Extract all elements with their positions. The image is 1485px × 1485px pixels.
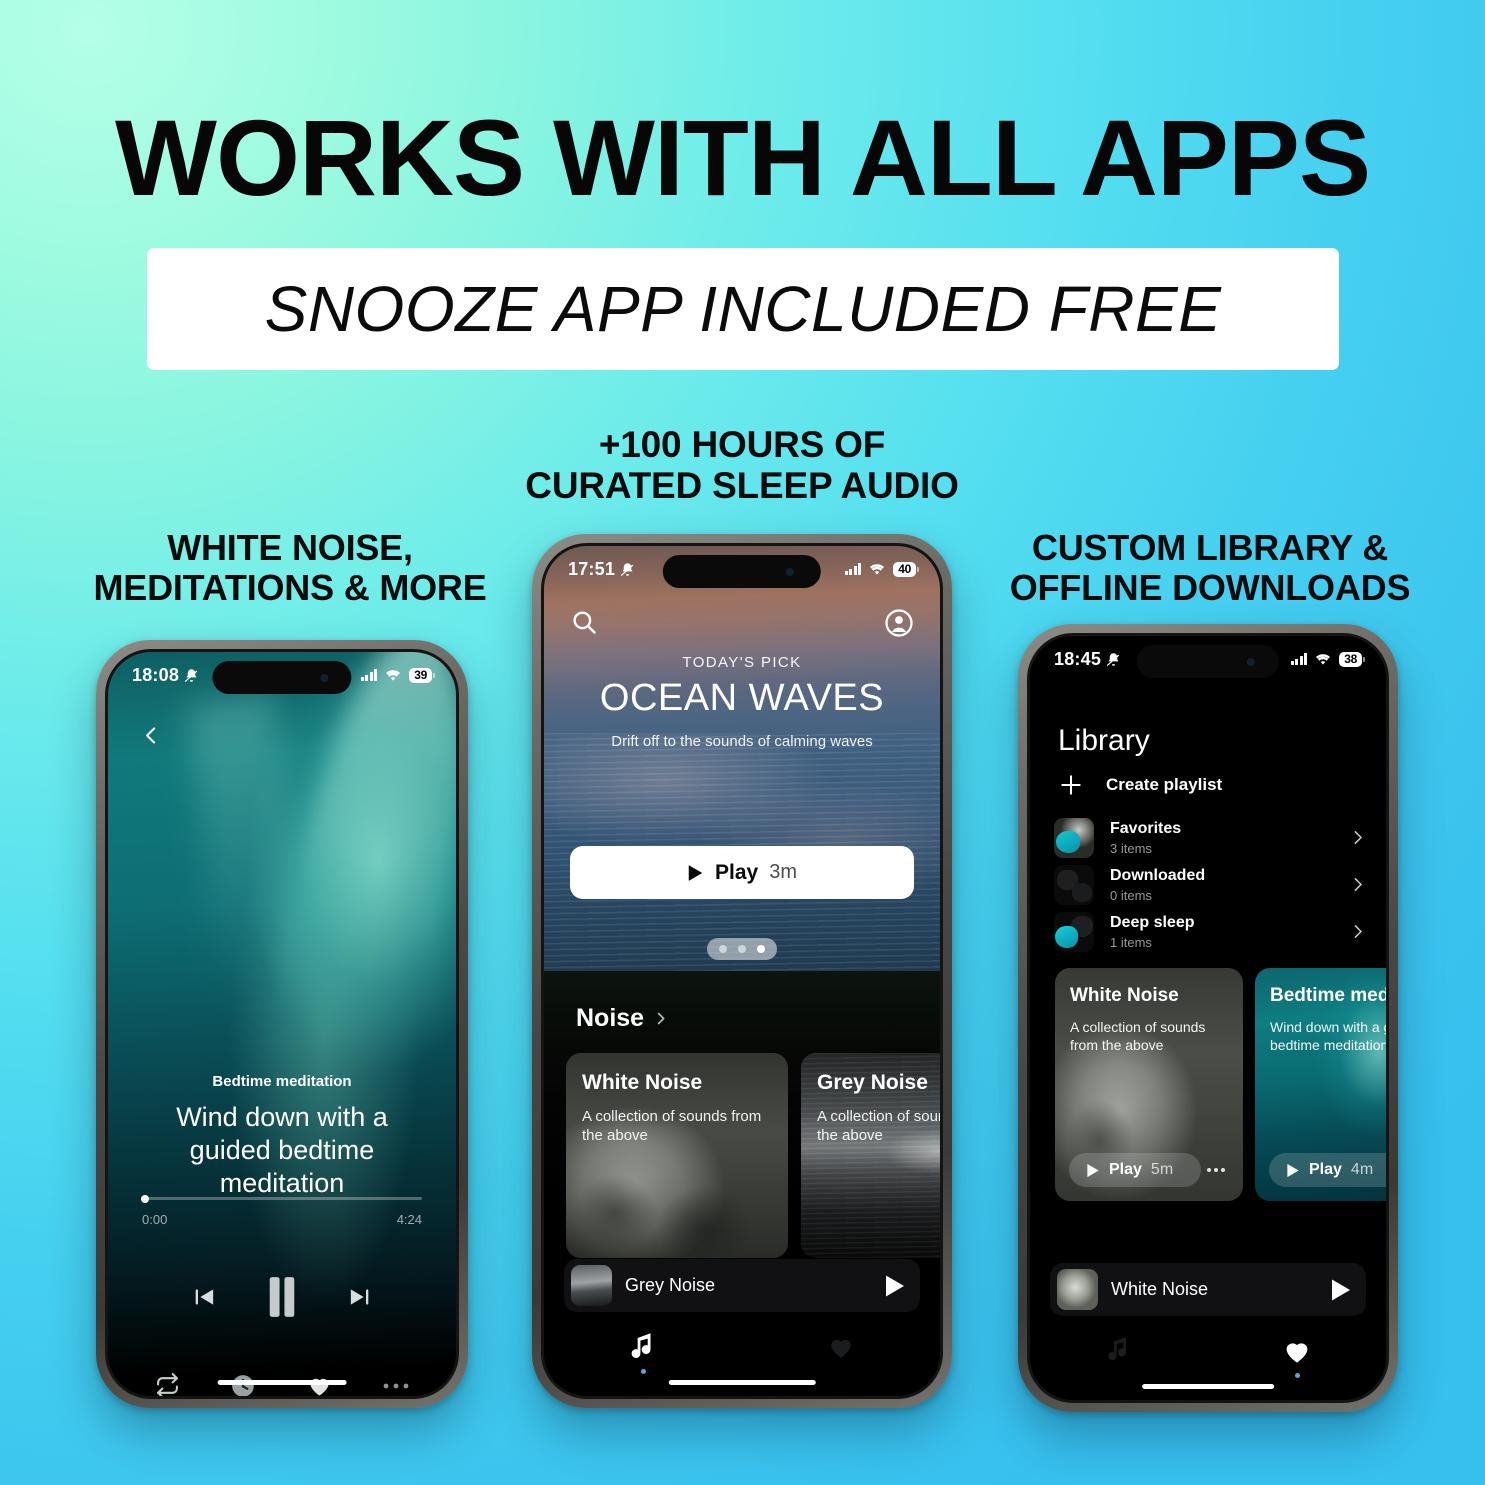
card-play-label: Play <box>1109 1161 1142 1179</box>
noise-section-title: Noise <box>576 1004 644 1033</box>
card-play-duration: 5m <box>1151 1161 1173 1179</box>
battery-level: 38 <box>1339 652 1362 667</box>
playlist-count: 3 items <box>1110 841 1333 856</box>
today-pick-description: Drift off to the sounds of calming waves <box>562 733 922 750</box>
phone-left-player: 18:08 39 Bedtime meditation Wind dow <box>96 640 468 1408</box>
wifi-icon <box>1314 652 1332 666</box>
timer-clock-icon[interactable] <box>230 1373 256 1399</box>
play-triangle-icon[interactable] <box>884 1274 906 1298</box>
repeat-icon[interactable] <box>155 1373 180 1398</box>
player-actions <box>108 1372 456 1399</box>
carousel-pager[interactable] <box>707 938 777 960</box>
card-play-button[interactable]: Play 4m <box>1269 1153 1389 1187</box>
battery-level: 40 <box>893 562 916 577</box>
account-circle-icon[interactable] <box>884 608 914 638</box>
phone-center-home: 17:51 40 T <box>532 534 952 1408</box>
dynamic-island <box>212 661 351 694</box>
tab-sounds[interactable] <box>1030 1336 1208 1378</box>
tab-active-dot <box>641 1369 646 1374</box>
chevron-right-icon <box>1349 876 1366 893</box>
list-item[interactable]: Deep sleep 1 items <box>1054 908 1366 955</box>
noise-card-grey-noise[interactable]: Grey Noise A collection of sounds from t… <box>801 1053 943 1258</box>
library-card-list: White Noise A collection of sounds from … <box>1055 968 1386 1201</box>
phone-right-library: 18:45 38 Library Create playlist <box>1018 624 1398 1412</box>
noise-card-title: White Noise <box>582 1071 772 1095</box>
bell-slash-icon <box>1106 652 1121 667</box>
now-playing-title: Wind down with a guided bedtime meditati… <box>138 1101 426 1200</box>
playlist-name: Downloaded <box>1110 867 1333 885</box>
bell-slash-icon <box>620 562 635 577</box>
remaining-time: 4:24 <box>397 1212 422 1227</box>
wifi-icon <box>868 562 886 576</box>
transport-controls <box>108 1274 456 1320</box>
hero-play-label: Play <box>715 861 758 885</box>
today-pick-kicker: TODAY'S PICK <box>562 654 922 671</box>
noise-card-description: A collection of sounds from the above <box>582 1107 772 1145</box>
wifi-icon <box>384 668 402 682</box>
create-playlist-label: Create playlist <box>1106 775 1222 795</box>
library-card-title: White Noise <box>1070 985 1228 1007</box>
play-triangle-icon[interactable] <box>1330 1278 1352 1302</box>
tab-bar <box>1030 1336 1386 1378</box>
tab-active-dot <box>1295 1373 1300 1378</box>
now-playing-info: Bedtime meditation Wind down with a guid… <box>108 1073 456 1200</box>
mini-player[interactable]: Grey Noise <box>564 1259 920 1312</box>
now-playing-kicker: Bedtime meditation <box>138 1073 426 1090</box>
tab-inactive-dot <box>839 1369 844 1374</box>
dynamic-island <box>1137 645 1279 678</box>
library-title: Library <box>1058 724 1150 758</box>
back-button[interactable] <box>134 718 168 752</box>
mini-player-title: White Noise <box>1111 1279 1317 1300</box>
playlist-artwork <box>1054 818 1094 858</box>
chevron-left-icon <box>141 725 162 746</box>
skip-previous-icon[interactable] <box>191 1283 219 1311</box>
noise-section-header[interactable]: Noise <box>544 971 940 1033</box>
playlist-count: 0 items <box>1110 888 1333 903</box>
create-playlist-row[interactable]: Create playlist <box>1058 772 1362 798</box>
cellular-bars-icon <box>845 563 862 575</box>
more-ellipsis-icon[interactable] <box>383 1382 409 1390</box>
subtitle-left-line2: MEDITATIONS & MORE <box>30 568 550 608</box>
mini-player-title: Grey Noise <box>625 1275 871 1296</box>
music-note-icon <box>1107 1336 1131 1364</box>
mini-player-artwork <box>571 1265 612 1306</box>
status-time: 17:51 <box>568 559 615 580</box>
subtitle-center: +100 HOURS OF CURATED SLEEP AUDIO <box>392 424 1092 507</box>
dynamic-island <box>663 555 821 588</box>
hero-play-button[interactable]: Play 3m <box>570 846 914 899</box>
playlist-artwork <box>1054 865 1094 905</box>
playlist-list: Favorites 3 items Downloaded 0 items Dee… <box>1054 814 1366 955</box>
cellular-bars-icon <box>361 669 378 681</box>
promo-banner-text: SNOOZE APP INCLUDED FREE <box>265 272 1222 346</box>
playlist-artwork <box>1054 912 1094 952</box>
chevron-right-icon <box>1349 829 1366 846</box>
pager-dot-3-active[interactable] <box>757 945 765 953</box>
library-card-title: Bedtime medit <box>1270 985 1389 1007</box>
subtitle-center-line2: CURATED SLEEP AUDIO <box>392 465 1092 506</box>
play-triangle-icon <box>1286 1163 1300 1178</box>
home-indicator <box>1142 1384 1274 1389</box>
bell-slash-icon <box>184 668 199 683</box>
list-item[interactable]: Downloaded 0 items <box>1054 861 1366 908</box>
playlist-name: Deep sleep <box>1110 914 1333 932</box>
heart-icon <box>1282 1336 1312 1366</box>
library-card-bedtime-meditation[interactable]: Bedtime medit Wind down with a gu bedtim… <box>1255 968 1389 1201</box>
skip-next-icon[interactable] <box>345 1283 373 1311</box>
page-title: WORKS WITH ALL APPS <box>0 104 1485 212</box>
playlist-name: Favorites <box>1110 820 1333 838</box>
subtitle-center-line1: +100 HOURS OF <box>392 424 1092 465</box>
search-icon[interactable] <box>570 608 598 636</box>
tab-library[interactable] <box>1208 1336 1386 1378</box>
subtitle-right-line2: OFFLINE DOWNLOADS <box>950 568 1470 608</box>
heart-filled-icon[interactable] <box>306 1372 333 1399</box>
playlist-count: 1 items <box>1110 935 1333 950</box>
noise-card-title: Grey Noise <box>817 1071 943 1095</box>
card-play-duration: 4m <box>1351 1161 1373 1179</box>
mini-player[interactable]: White Noise <box>1050 1263 1366 1316</box>
tab-library[interactable] <box>742 1332 940 1374</box>
home-indicator <box>218 1380 347 1385</box>
chevron-right-icon <box>653 1011 668 1026</box>
status-time: 18:45 <box>1054 649 1101 670</box>
pause-icon[interactable] <box>263 1274 301 1320</box>
more-ellipsis-icon[interactable] <box>1201 1168 1231 1172</box>
tab-bar <box>544 1332 940 1374</box>
promo-banner: SNOOZE APP INCLUDED FREE <box>147 248 1339 370</box>
subtitle-right-line1: CUSTOM LIBRARY & <box>950 528 1470 568</box>
hero-toolbar <box>544 608 940 638</box>
progress-slider[interactable] <box>142 1197 422 1200</box>
library-card-white-noise[interactable]: White Noise A collection of sounds from … <box>1055 968 1243 1201</box>
progress-area: 0:00 4:24 <box>142 1197 422 1227</box>
hero-play-duration: 3m <box>769 861 797 884</box>
tab-sounds[interactable] <box>544 1332 742 1374</box>
subtitle-left: WHITE NOISE, MEDITATIONS & MORE <box>30 528 550 609</box>
noise-card-description: A collection of sounds from the above <box>817 1107 943 1145</box>
subtitle-right: CUSTOM LIBRARY & OFFLINE DOWNLOADS <box>950 528 1470 609</box>
mini-player-artwork <box>1057 1269 1098 1310</box>
music-note-icon <box>630 1332 656 1362</box>
chevron-right-icon <box>1349 923 1366 940</box>
elapsed-time: 0:00 <box>142 1212 167 1227</box>
card-play-button[interactable]: Play 5m <box>1069 1153 1201 1187</box>
today-pick-title: OCEAN WAVES <box>562 677 922 720</box>
battery-level: 39 <box>409 668 432 683</box>
list-item[interactable]: Favorites 3 items <box>1054 814 1366 861</box>
subtitle-left-line1: WHITE NOISE, <box>30 528 550 568</box>
status-time: 18:08 <box>132 665 179 686</box>
tab-inactive-dot <box>1117 1371 1122 1376</box>
noise-card-white-noise[interactable]: White Noise A collection of sounds from … <box>566 1053 788 1258</box>
plus-icon <box>1058 772 1084 798</box>
progress-knob[interactable] <box>141 1195 149 1203</box>
today-pick-block: TODAY'S PICK OCEAN WAVES Drift off to th… <box>544 654 940 750</box>
play-triangle-icon <box>1086 1163 1100 1178</box>
pager-dot-2[interactable] <box>738 945 746 953</box>
heart-icon <box>827 1332 855 1362</box>
noise-card-list: White Noise A collection of sounds from … <box>544 1033 940 1258</box>
home-indicator <box>669 1380 816 1385</box>
library-card-description: Wind down with a gu bedtime meditation <box>1270 1018 1389 1054</box>
card-play-label: Play <box>1309 1161 1342 1179</box>
play-triangle-icon <box>687 864 704 882</box>
cellular-bars-icon <box>1291 653 1308 665</box>
library-card-description: A collection of sounds from the above <box>1070 1018 1228 1054</box>
pager-dot-1[interactable] <box>719 945 727 953</box>
